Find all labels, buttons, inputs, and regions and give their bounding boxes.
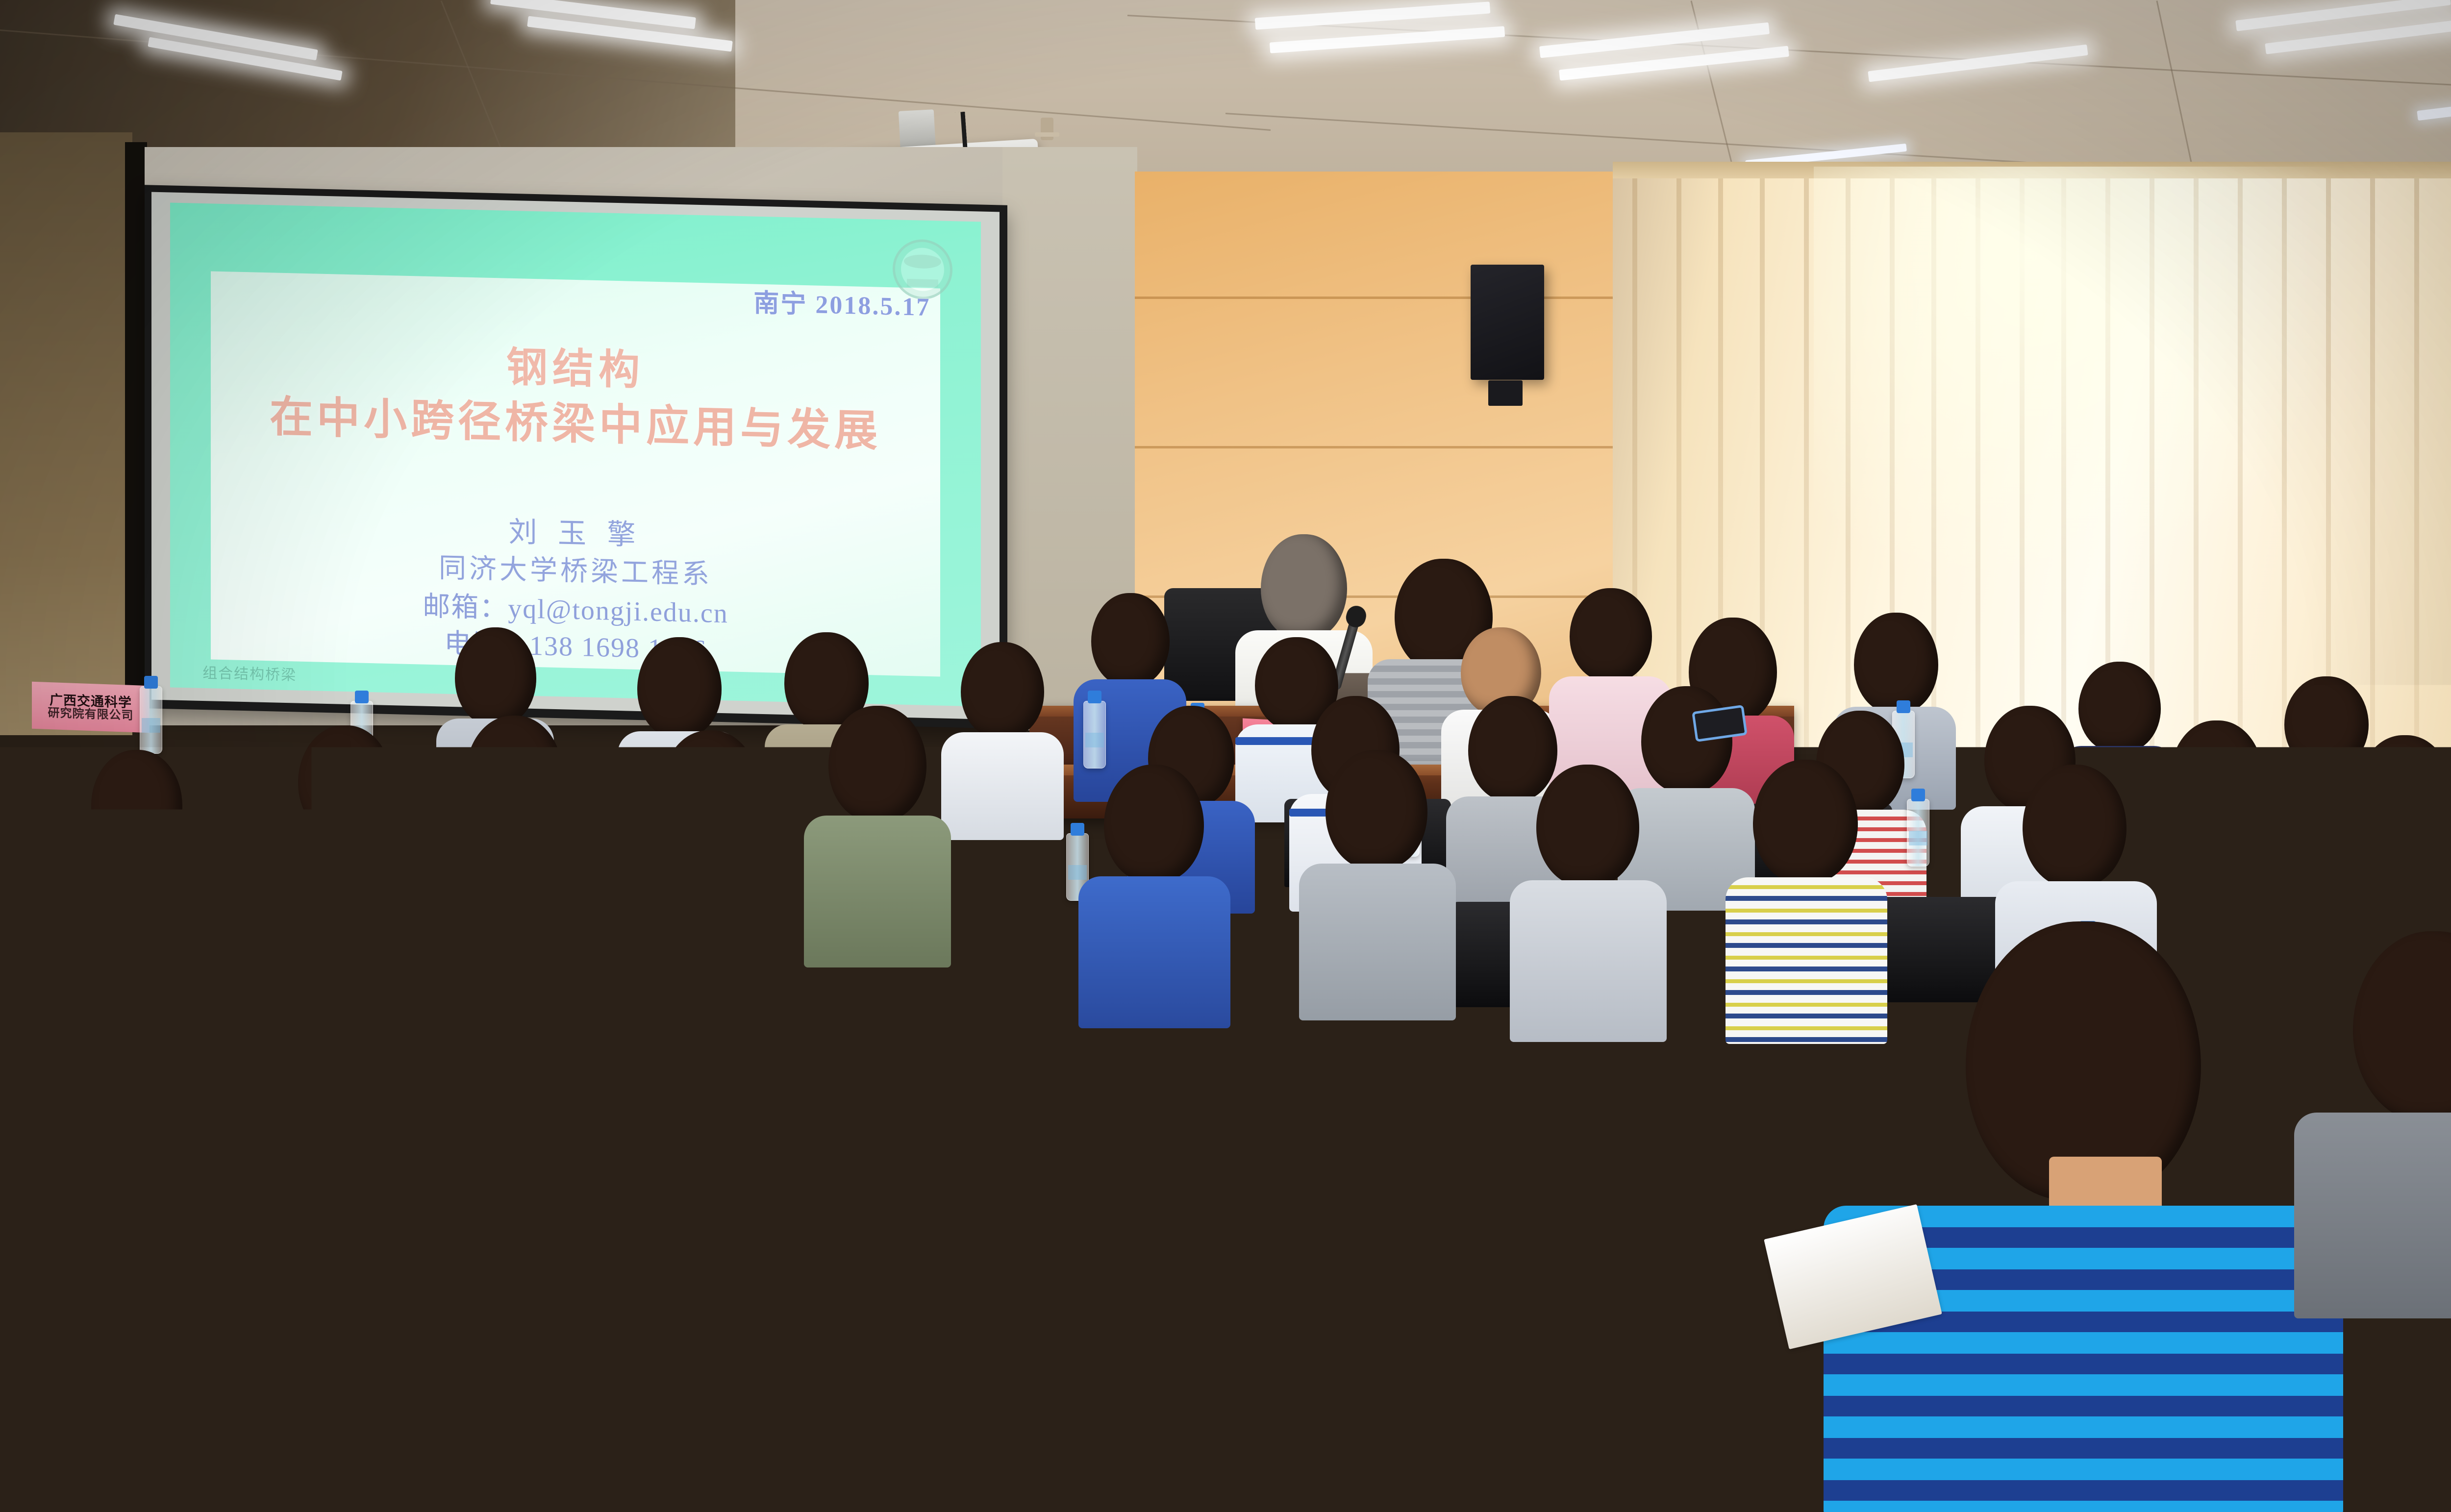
slide-footer-text: 组合结构桥梁: [202, 661, 297, 685]
fire-sprinkler-icon: [1041, 118, 1053, 140]
attendee: [2294, 931, 2451, 1314]
torso: [0, 1421, 343, 1512]
torso: [69, 853, 206, 990]
attendee: [275, 725, 417, 970]
attendee: [804, 706, 951, 966]
water-bottle: [1083, 701, 1106, 768]
head: [578, 853, 701, 1000]
head: [298, 725, 392, 836]
water-bottle: [1907, 799, 1929, 867]
head: [91, 750, 182, 858]
venue-sign-line2: 研究院有限公司: [48, 706, 134, 721]
head: [1570, 588, 1652, 681]
torso: [1078, 876, 1230, 1028]
wall-speaker: [1471, 265, 1544, 380]
conference-room-photo: 南宁 2018.5.17 钢结构 在中小跨径桥梁中应用与发展 刘 玉 擎 同济大…: [0, 0, 2451, 1512]
head: [466, 716, 563, 830]
water-bottle: [140, 686, 162, 754]
head: [2023, 765, 2126, 887]
torso: [1510, 880, 1667, 1042]
head: [1753, 760, 1858, 883]
head: [828, 706, 926, 821]
head: [2353, 931, 2451, 1122]
head: [455, 627, 536, 725]
head: [2205, 794, 2312, 919]
lanyard: [1368, 1338, 1515, 1350]
attendee: [1078, 765, 1230, 1024]
venue-wall-sign: 广西交通科学 研究院有限公司: [32, 682, 150, 733]
torso: [578, 1318, 1083, 1512]
presentation-slide: 南宁 2018.5.17 钢结构 在中小跨径桥梁中应用与发展 刘 玉 擎 同济大…: [170, 202, 981, 706]
head: [1091, 593, 1170, 686]
attendee: [1299, 750, 1456, 1019]
torso: [941, 732, 1064, 840]
head: [1104, 765, 1204, 882]
wall-dark-strip: [125, 142, 147, 725]
torso: [275, 831, 417, 973]
head: [637, 637, 722, 738]
attendee: [1510, 765, 1667, 1039]
attendee: [941, 642, 1064, 833]
attendee: [0, 1255, 343, 1512]
attendee: [1284, 1093, 1755, 1512]
torso: [2294, 1113, 2451, 1318]
torso: [1299, 864, 1456, 1020]
torso: [1284, 1348, 1755, 1512]
head: [1261, 534, 1347, 639]
torso: [804, 816, 951, 967]
head: [961, 642, 1044, 738]
head: [1536, 765, 1639, 886]
attendee: [69, 750, 206, 985]
head: [1854, 613, 1938, 713]
curtain-rail: [1613, 162, 2451, 178]
lanyard: [667, 1303, 828, 1315]
head: [662, 730, 759, 844]
head: [1326, 750, 1427, 869]
left-wall: [0, 132, 132, 735]
slide-place-date: 南宁 2018.5.17: [753, 282, 930, 323]
head: [59, 1255, 255, 1441]
